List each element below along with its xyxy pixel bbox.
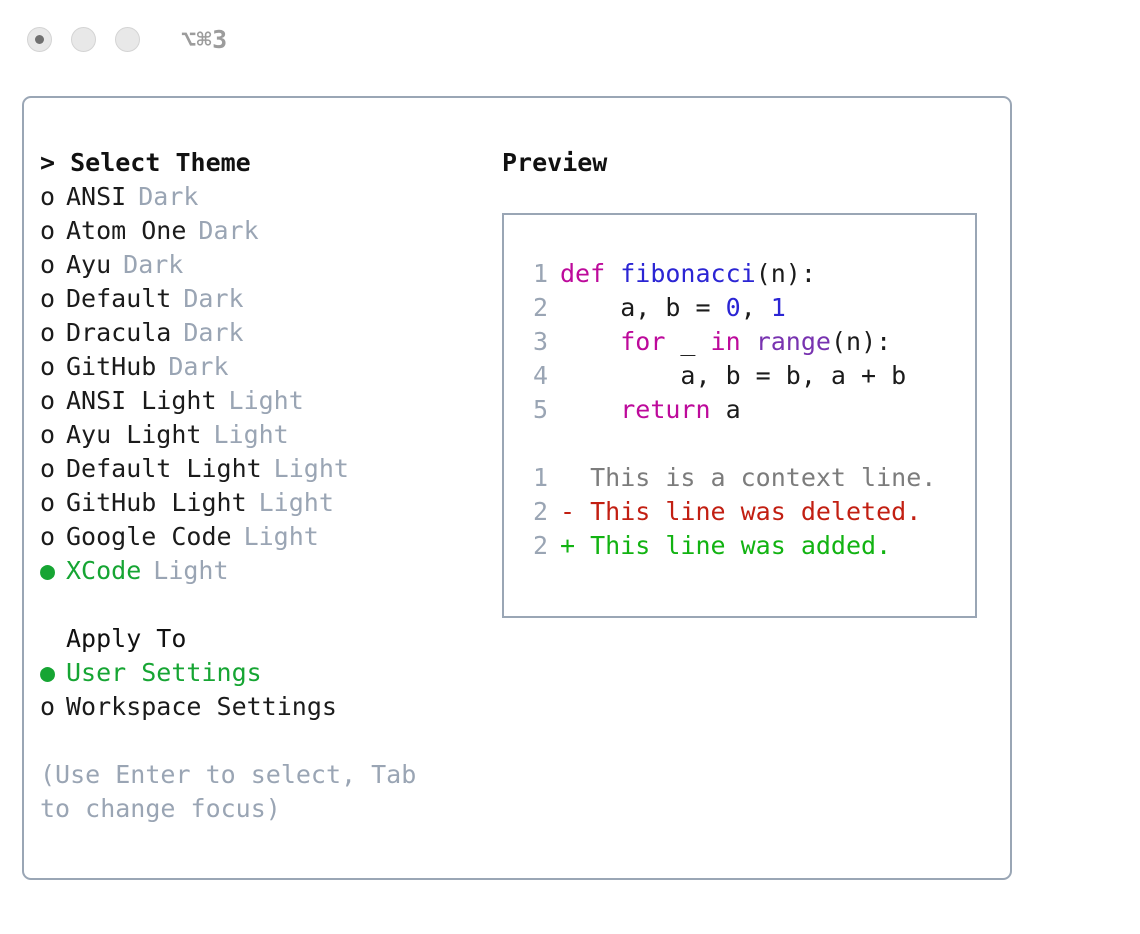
theme-option-dracula[interactable]: oDraculaDark [40, 316, 470, 350]
theme-option-label: ANSI Light [66, 384, 217, 418]
radio-unselected-icon: o [40, 248, 66, 282]
theme-option-label: Atom One [66, 214, 186, 248]
select-theme-heading: > Select Theme [40, 146, 470, 180]
window-dot-active-icon[interactable] [27, 27, 52, 52]
code-token-txt: (n): [831, 327, 891, 356]
code-token-fn: fibonacci [620, 259, 755, 288]
radio-unselected-icon: o [40, 316, 66, 350]
diff-line-number: 2 [518, 529, 548, 563]
code-token-txt [560, 327, 620, 356]
code-token-kw: return [620, 395, 710, 424]
theme-option-atom-one[interactable]: oAtom OneDark [40, 214, 470, 248]
theme-option-xcode[interactable]: ●XCodeLight [40, 554, 470, 588]
code-line: 4 a, b = b, a + b [518, 359, 975, 393]
code-token-txt: , [741, 293, 771, 322]
preview-box: 1def fibonacci(n):2 a, b = 0, 13 for _ i… [502, 213, 977, 618]
apply-to-option-label: Workspace Settings [66, 690, 337, 724]
theme-option-google-code[interactable]: oGoogle CodeLight [40, 520, 470, 554]
radio-selected-icon: ● [40, 554, 66, 588]
window-dot-active-inner-icon [35, 35, 44, 44]
diff-line: 1 This is a context line. [518, 461, 975, 495]
code-line-number: 4 [518, 359, 548, 393]
diff-line-content: + This line was added. [560, 529, 891, 563]
code-line: 2 a, b = 0, 1 [518, 291, 975, 325]
code-line: 5 return a [518, 393, 975, 427]
theme-variant-tag: Dark [168, 350, 228, 384]
code-line-number: 3 [518, 325, 548, 359]
diff-sample: 1 This is a context line.2- This line wa… [518, 461, 975, 563]
theme-variant-tag: Light [274, 452, 349, 486]
radio-unselected-icon: o [40, 180, 66, 214]
code-line-content: for _ in range(n): [560, 325, 891, 359]
apply-to-option-workspace-settings[interactable]: oWorkspace Settings [40, 690, 470, 724]
keyboard-shortcut-label: ⌥⌘3 [181, 27, 228, 52]
radio-unselected-icon: o [40, 282, 66, 316]
radio-selected-icon: ● [40, 656, 66, 690]
apply-to-option-label: User Settings [66, 656, 262, 690]
theme-variant-tag: Dark [138, 180, 198, 214]
theme-option-label: GitHub Light [66, 486, 247, 520]
radio-unselected-icon: o [40, 520, 66, 554]
preview-column: Preview 1def fibonacci(n):2 a, b = 0, 13… [502, 146, 992, 618]
radio-unselected-icon: o [40, 690, 66, 724]
code-line-content: return a [560, 393, 741, 427]
code-line-number: 2 [518, 291, 548, 325]
diff-marker-del: - [560, 497, 575, 526]
code-line: 1def fibonacci(n): [518, 257, 975, 291]
radio-unselected-icon: o [40, 486, 66, 520]
list-spacer [40, 588, 470, 622]
keyboard-hint-text: (Use Enter to select, Tab to change focu… [40, 758, 444, 826]
code-token-call: range [756, 327, 831, 356]
radio-unselected-icon: o [40, 418, 66, 452]
apply-to-list[interactable]: ●User SettingsoWorkspace Settings [40, 656, 470, 724]
theme-option-label: Ayu [66, 248, 111, 282]
title-bar: ⌥⌘3 [0, 0, 1140, 78]
code-line-content: def fibonacci(n): [560, 257, 816, 291]
code-line-number: 1 [518, 257, 548, 291]
app-window: ⌥⌘3 > Select Theme oANSIDarkoAtom OneDar… [0, 0, 1140, 934]
window-dot-third-icon[interactable] [115, 27, 140, 52]
diff-marker-add: + [560, 531, 575, 560]
code-token-num: 1 [771, 293, 786, 322]
theme-option-ayu-light[interactable]: oAyu LightLight [40, 418, 470, 452]
preview-heading: Preview [502, 146, 992, 180]
theme-option-ayu[interactable]: oAyuDark [40, 248, 470, 282]
code-token-txt [741, 327, 756, 356]
radio-unselected-icon: o [40, 214, 66, 248]
apply-to-heading: Apply To [40, 622, 470, 656]
theme-option-label: XCode [66, 554, 141, 588]
theme-list-column: > Select Theme oANSIDarkoAtom OneDarkoAy… [40, 146, 470, 826]
diff-line-content: - This line was deleted. [560, 495, 921, 529]
theme-option-label: Default [66, 282, 171, 316]
theme-variant-tag: Dark [198, 214, 258, 248]
diff-line-text: This line was added. [575, 531, 891, 560]
code-line: 3 for _ in range(n): [518, 325, 975, 359]
code-token-txt: a [711, 395, 741, 424]
code-line-number: 5 [518, 393, 548, 427]
diff-marker-ctx [560, 463, 575, 492]
code-line-content: a, b = 0, 1 [560, 291, 786, 325]
apply-to-option-user-settings[interactable]: ●User Settings [40, 656, 470, 690]
theme-variant-tag: Dark [123, 248, 183, 282]
code-token-kw: for [620, 327, 665, 356]
theme-picker-panel: > Select Theme oANSIDarkoAtom OneDarkoAy… [22, 96, 1012, 880]
theme-option-github-light[interactable]: oGitHub LightLight [40, 486, 470, 520]
radio-unselected-icon: o [40, 452, 66, 486]
window-controls [27, 27, 140, 52]
code-token-kw: in [711, 327, 741, 356]
theme-variant-tag: Light [244, 520, 319, 554]
theme-option-label: GitHub [66, 350, 156, 384]
code-token-txt: _ [665, 327, 710, 356]
code-token-num: 0 [726, 293, 741, 322]
diff-line: 2+ This line was added. [518, 529, 975, 563]
code-line-content: a, b = b, a + b [560, 359, 906, 393]
radio-unselected-icon: o [40, 384, 66, 418]
code-token-txt [560, 395, 620, 424]
theme-variant-tag: Light [229, 384, 304, 418]
theme-variant-tag: Dark [183, 282, 243, 316]
theme-variant-tag: Light [213, 418, 288, 452]
theme-option-label: ANSI [66, 180, 126, 214]
theme-option-label: Ayu Light [66, 418, 201, 452]
window-dot-second-icon[interactable] [71, 27, 96, 52]
code-token-txt: a, b = [560, 293, 726, 322]
theme-option-default[interactable]: oDefaultDark [40, 282, 470, 316]
diff-line-text: This is a context line. [575, 463, 936, 492]
theme-option-github[interactable]: oGitHubDark [40, 350, 470, 384]
theme-variant-tag: Light [259, 486, 334, 520]
theme-variant-tag: Light [153, 554, 228, 588]
code-sample: 1def fibonacci(n):2 a, b = 0, 13 for _ i… [518, 257, 975, 427]
theme-option-ansi-light[interactable]: oANSI LightLight [40, 384, 470, 418]
diff-line: 2- This line was deleted. [518, 495, 975, 529]
diff-line-content: This is a context line. [560, 461, 936, 495]
theme-option-default-light[interactable]: oDefault LightLight [40, 452, 470, 486]
diff-line-number: 1 [518, 461, 548, 495]
diff-line-number: 2 [518, 495, 548, 529]
diff-line-text: This line was deleted. [575, 497, 921, 526]
theme-variant-tag: Dark [183, 316, 243, 350]
code-token-txt: a, b = b, a + b [560, 361, 906, 390]
code-diff-spacer [518, 427, 975, 461]
theme-option-label: Dracula [66, 316, 171, 350]
code-token-kw: def [560, 259, 620, 288]
theme-option-label: Google Code [66, 520, 232, 554]
theme-option-ansi[interactable]: oANSIDark [40, 180, 470, 214]
theme-option-label: Default Light [66, 452, 262, 486]
radio-unselected-icon: o [40, 350, 66, 384]
theme-list[interactable]: oANSIDarkoAtom OneDarkoAyuDarkoDefaultDa… [40, 180, 470, 588]
code-token-txt: (n): [756, 259, 816, 288]
